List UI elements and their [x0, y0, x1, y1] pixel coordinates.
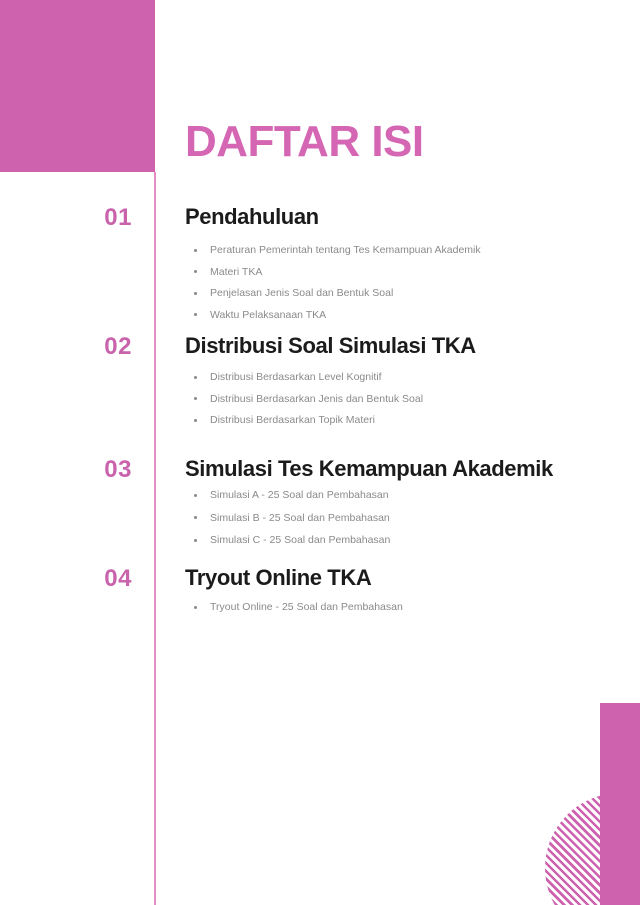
list-item[interactable]: Materi TKA: [192, 267, 481, 278]
bullet-icon: [194, 494, 197, 497]
section-number-02: 02: [60, 333, 132, 361]
bullet-icon: [194, 376, 197, 379]
section-items-02: Distribusi Berdasarkan Level Kognitif Di…: [192, 372, 423, 437]
section-number-01: 01: [60, 204, 132, 232]
bullet-icon: [194, 270, 197, 273]
page-title: DAFTAR ISI: [185, 120, 424, 164]
list-item[interactable]: Tryout Online - 25 Soal dan Pembahasan: [192, 602, 403, 613]
list-item-label: Distribusi Berdasarkan Level Kognitif: [210, 371, 382, 383]
bullet-icon: [194, 539, 197, 542]
list-item-label: Simulasi B - 25 Soal dan Pembahasan: [210, 512, 390, 524]
list-item[interactable]: Simulasi B - 25 Soal dan Pembahasan: [192, 513, 390, 524]
list-item[interactable]: Distribusi Berdasarkan Level Kognitif: [192, 372, 423, 383]
list-item[interactable]: Distribusi Berdasarkan Jenis dan Bentuk …: [192, 394, 423, 405]
list-item[interactable]: Simulasi C - 25 Soal dan Pembahasan: [192, 535, 390, 546]
section-title-02[interactable]: Distribusi Soal Simulasi TKA: [185, 333, 476, 359]
list-item-label: Distribusi Berdasarkan Jenis dan Bentuk …: [210, 393, 423, 405]
list-item-label: Simulasi A - 25 Soal dan Pembahasan: [210, 489, 389, 501]
list-item-label: Simulasi C - 25 Soal dan Pembahasan: [210, 534, 390, 546]
list-item[interactable]: Peraturan Pemerintah tentang Tes Kemampu…: [192, 245, 481, 256]
bullet-icon: [194, 292, 197, 295]
list-item[interactable]: Simulasi A - 25 Soal dan Pembahasan: [192, 490, 390, 501]
bullet-icon: [194, 397, 197, 400]
bullet-icon: [194, 516, 197, 519]
list-item-label: Tryout Online - 25 Soal dan Pembahasan: [210, 601, 403, 613]
bullet-icon: [194, 606, 197, 609]
list-item-label: Peraturan Pemerintah tentang Tes Kemampu…: [210, 244, 481, 256]
section-items-04: Tryout Online - 25 Soal dan Pembahasan: [192, 602, 403, 625]
bullet-icon: [194, 313, 197, 316]
bullet-icon: [194, 249, 197, 252]
bullet-icon: [194, 419, 197, 422]
pink-bottom-bar: [600, 703, 640, 905]
list-item-label: Materi TKA: [210, 266, 262, 278]
list-item[interactable]: Waktu Pelaksanaan TKA: [192, 310, 481, 321]
section-title-04[interactable]: Tryout Online TKA: [185, 565, 371, 591]
list-item-label: Distribusi Berdasarkan Topik Materi: [210, 414, 375, 426]
list-item[interactable]: Distribusi Berdasarkan Topik Materi: [192, 415, 423, 426]
pink-corner-block: [0, 0, 155, 172]
section-items-03: Simulasi A - 25 Soal dan Pembahasan Simu…: [192, 490, 390, 558]
section-title-01[interactable]: Pendahuluan: [185, 204, 319, 230]
list-item-label: Waktu Pelaksanaan TKA: [210, 309, 326, 321]
section-number-03: 03: [60, 456, 132, 484]
section-number-04: 04: [60, 565, 132, 593]
vertical-divider-line: [154, 172, 156, 905]
section-items-01: Peraturan Pemerintah tentang Tes Kemampu…: [192, 245, 481, 331]
table-of-contents-page: DAFTAR ISI 01 Pendahuluan Peraturan Peme…: [0, 0, 640, 905]
section-title-03[interactable]: Simulasi Tes Kemampuan Akademik: [185, 456, 553, 482]
list-item-label: Penjelasan Jenis Soal dan Bentuk Soal: [210, 287, 393, 299]
list-item[interactable]: Penjelasan Jenis Soal dan Bentuk Soal: [192, 288, 481, 299]
